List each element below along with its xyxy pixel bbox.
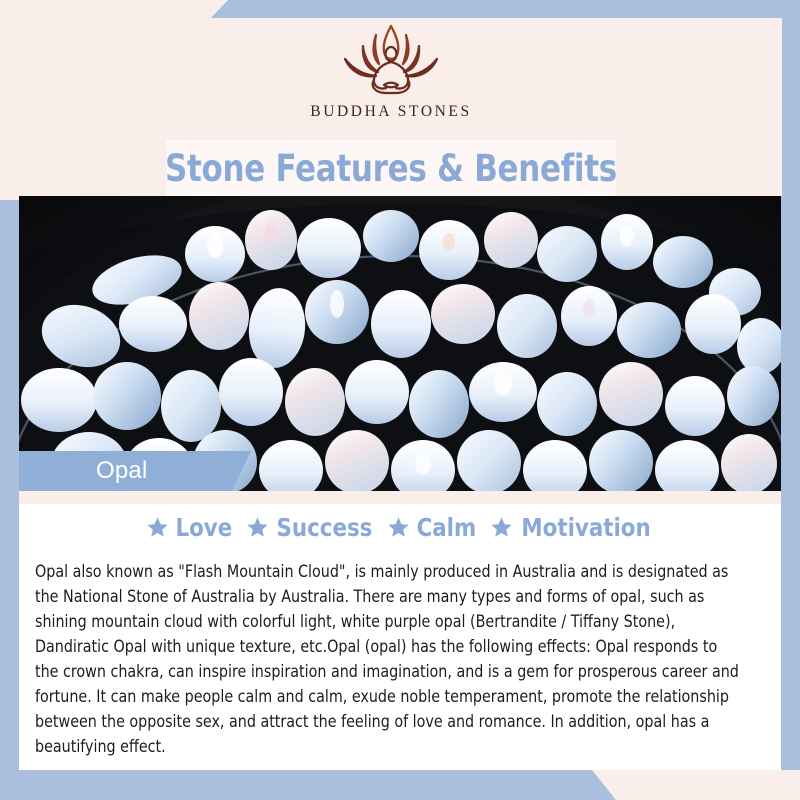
benefit-item: Motivation xyxy=(490,513,654,542)
star-icon xyxy=(387,516,410,539)
star-icon xyxy=(146,516,169,539)
benefit-item: Love xyxy=(146,513,234,542)
left-blue-rail xyxy=(0,200,19,770)
benefits-list: Love Success Calm Motivation xyxy=(19,513,781,542)
lotus-meditation-icon xyxy=(332,22,450,102)
benefit-item: Calm xyxy=(387,513,478,542)
title-plate: Stone Features & Benefits xyxy=(166,140,616,196)
benefit-label: Motivation xyxy=(521,513,650,542)
page-title: Stone Features & Benefits xyxy=(165,147,617,190)
content-card: Love Success Calm Motivation O xyxy=(19,491,781,770)
opal-stones-photo xyxy=(19,196,781,491)
benefit-label: Calm xyxy=(416,513,476,542)
benefit-label: Success xyxy=(276,513,372,542)
stone-info-card: BUDDHA STONES Stone Features & Benefits xyxy=(0,0,800,800)
brand-name: BUDDHA STONES xyxy=(310,103,471,121)
brand-logo: BUDDHA STONES xyxy=(0,22,782,121)
stone-name: Opal xyxy=(96,457,148,485)
star-icon xyxy=(246,516,269,539)
stone-description: Opal also known as "Flash Mountain Cloud… xyxy=(35,559,743,759)
right-blue-rail xyxy=(781,24,800,770)
content-top-tint xyxy=(19,491,781,504)
star-icon xyxy=(490,516,513,539)
benefit-item: Success xyxy=(246,513,375,542)
benefit-label: Love xyxy=(176,513,233,542)
photo-illustration xyxy=(19,196,781,491)
stone-name-banner: Opal xyxy=(19,451,251,491)
